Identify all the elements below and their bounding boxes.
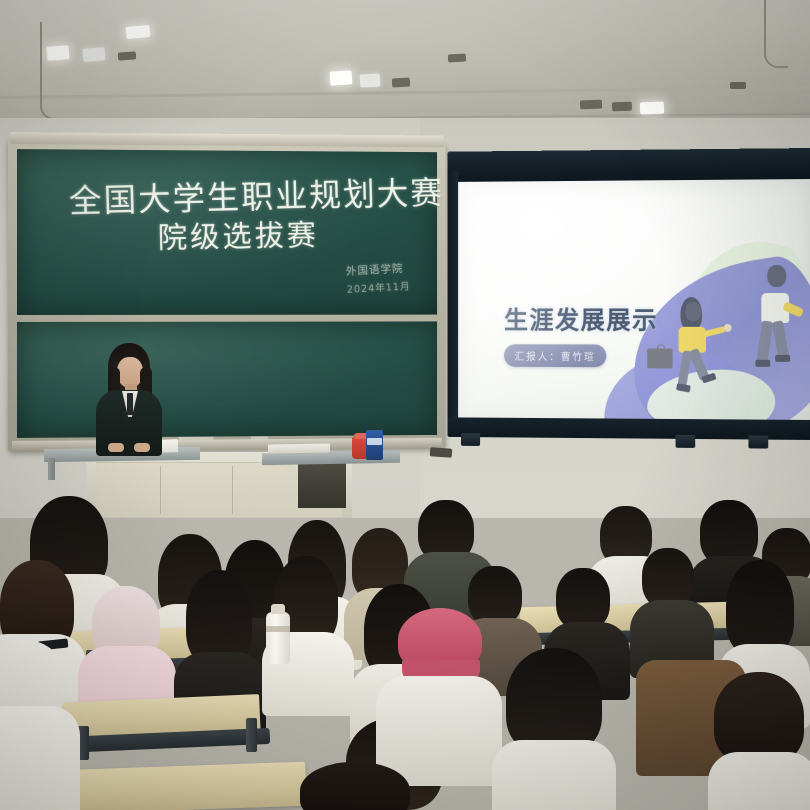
desk-bracket xyxy=(246,718,257,752)
presenter-tie xyxy=(127,393,133,415)
presenter-hand xyxy=(108,443,124,452)
figure-briefcase xyxy=(647,349,672,369)
student-body xyxy=(708,752,810,810)
screen-mount-bracket xyxy=(748,435,768,448)
figure-shoe xyxy=(775,355,790,362)
hanging-cable xyxy=(40,22,56,120)
student-body xyxy=(492,740,616,810)
presenter-hand xyxy=(134,443,150,452)
blackboard-upper-panel: 全国大学生职业规划大赛 院级选拔赛 外国语学院 2024年11月 xyxy=(17,149,437,315)
water-bottle xyxy=(266,612,290,664)
ceiling-light-panel-off xyxy=(448,54,466,63)
ceiling-light-panel-off xyxy=(118,51,137,60)
ceiling-light-panel xyxy=(360,73,381,87)
figure-leg xyxy=(756,320,773,363)
podium-panel-seam xyxy=(232,466,233,514)
chalk-piece xyxy=(178,437,213,440)
screen-mount-bracket xyxy=(676,435,696,448)
figure-head xyxy=(767,265,786,287)
blackboard-note-school: 外国语学院 xyxy=(345,260,403,279)
figure-head xyxy=(685,302,701,321)
podium-alcove xyxy=(298,460,346,508)
podium-panel-seam xyxy=(160,466,161,514)
ceiling-light-panel xyxy=(83,47,106,62)
bottle-band xyxy=(266,626,290,632)
figure-shoe xyxy=(676,383,691,392)
student-head xyxy=(642,548,694,608)
figure-leg xyxy=(772,320,789,359)
student-hair xyxy=(726,560,794,656)
figure-shoe xyxy=(755,360,770,367)
chalk-piece xyxy=(251,436,269,439)
ceiling xyxy=(0,0,810,128)
blue-canister xyxy=(366,430,383,460)
desk-papers xyxy=(268,443,330,453)
presenter xyxy=(86,343,174,453)
blackboard-note-date: 2024年11月 xyxy=(346,278,410,296)
ceiling-light-panel-off xyxy=(730,82,746,89)
student-hair xyxy=(714,672,804,764)
student-hair xyxy=(300,762,410,810)
figure-torso xyxy=(679,327,707,353)
student-head xyxy=(556,568,610,630)
student-head xyxy=(468,566,522,626)
slide-presenter-badge: 汇报人：曹竹瑄 xyxy=(504,344,606,367)
slide-surface: 生涯发展展示 汇报人：曹竹瑄 xyxy=(458,179,810,422)
projector-mount-arm xyxy=(430,447,453,458)
illustration-figure-right xyxy=(749,265,810,383)
figure-hand xyxy=(724,324,732,332)
hanging-cable xyxy=(764,0,788,68)
figure-arm xyxy=(702,326,726,338)
classroom-scene: 全国大学生职业规划大赛 院级选拔赛 外国语学院 2024年11月 xyxy=(0,0,810,810)
blackboard: 全国大学生职业规划大赛 院级选拔赛 外国语学院 2024年11月 xyxy=(8,140,446,452)
student-hair xyxy=(506,648,602,754)
student-desk xyxy=(55,762,306,810)
ceiling-light-panel-off xyxy=(580,100,602,110)
ceiling-light-panel xyxy=(640,102,664,115)
screen-side-rail xyxy=(448,171,458,433)
slide-title: 生涯发展展示 xyxy=(504,301,658,337)
desk-leg xyxy=(48,458,55,480)
illustration-figure-left xyxy=(665,297,734,406)
ceiling-light-panel-off xyxy=(392,78,410,88)
blackboard-lower-panel xyxy=(17,321,437,437)
student-body xyxy=(376,676,502,786)
screen-mount-bracket xyxy=(461,433,480,446)
student-body xyxy=(0,706,80,810)
ceiling-light-panel xyxy=(126,25,151,39)
ceiling-light-panel xyxy=(330,70,353,85)
blackboard-title-line2: 院级选拔赛 xyxy=(157,211,319,257)
ceiling-light-panel-off xyxy=(612,102,632,112)
projection-screen: 生涯发展展示 汇报人：曹竹瑄 xyxy=(448,148,810,466)
